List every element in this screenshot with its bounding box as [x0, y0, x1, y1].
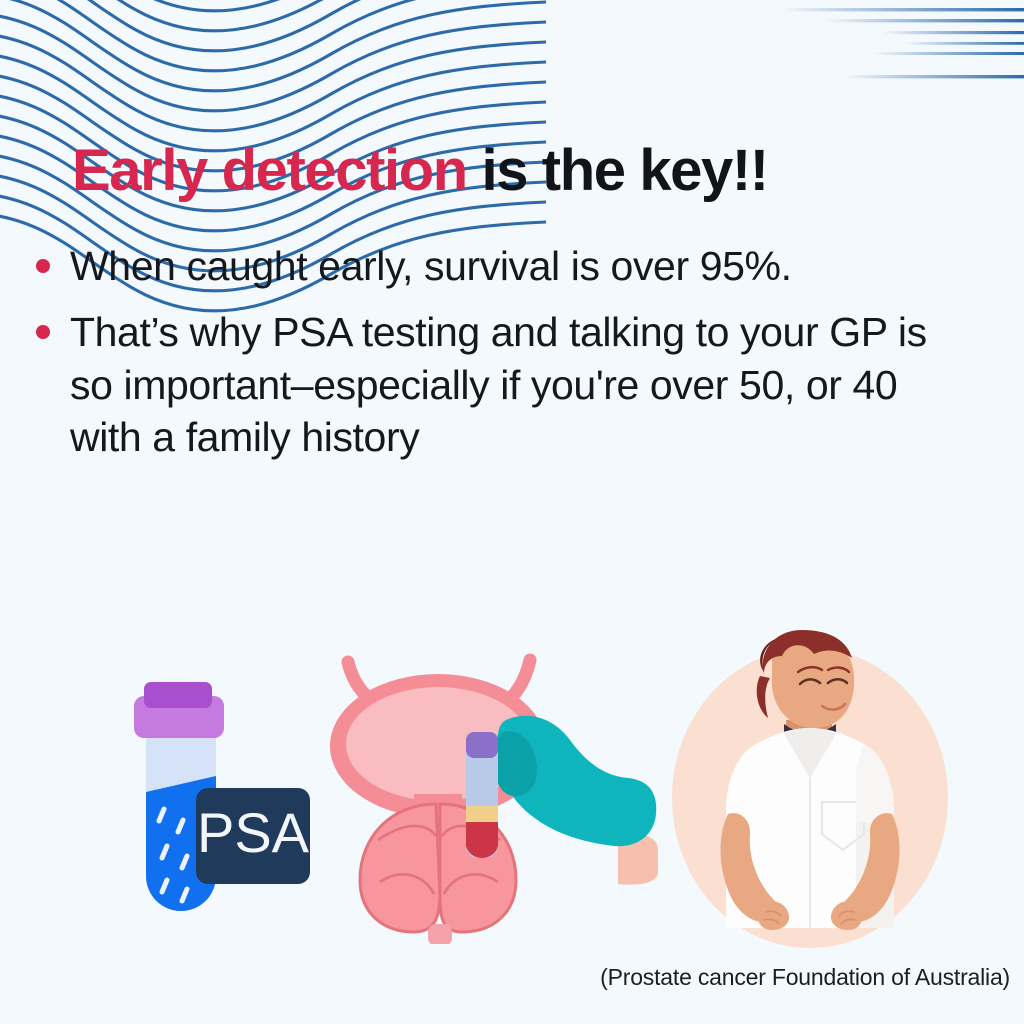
psa-badge-label: PSA	[197, 801, 310, 864]
illustration-band: PSA	[0, 628, 1024, 948]
page-title: Early detection is the key!!	[72, 142, 768, 200]
source-caption: (Prostate cancer Foundation of Australia…	[600, 964, 1010, 991]
bullet-dot-icon	[36, 259, 50, 273]
poster-canvas: Early detection is the key!! When caught…	[0, 0, 1024, 1024]
list-item-label: When caught early, survival is over 95%.	[70, 240, 950, 292]
bullet-dot-icon	[36, 325, 50, 339]
horizontal-speed-lines-decor	[724, 0, 1024, 110]
list-item: That’s why PSA testing and talking to yo…	[36, 306, 966, 463]
list-item: When caught early, survival is over 95%.	[36, 240, 966, 292]
bullet-list: When caught early, survival is over 95%.…	[36, 240, 966, 478]
prostate-anatomy-illustration	[318, 636, 658, 944]
doctor-illustration	[660, 628, 960, 948]
psa-test-tube-illustration: PSA	[112, 680, 322, 938]
list-item-label: That’s why PSA testing and talking to yo…	[70, 306, 950, 463]
page-title-plain: is the key!!	[467, 138, 768, 203]
page-title-accent: Early detection	[72, 138, 467, 203]
